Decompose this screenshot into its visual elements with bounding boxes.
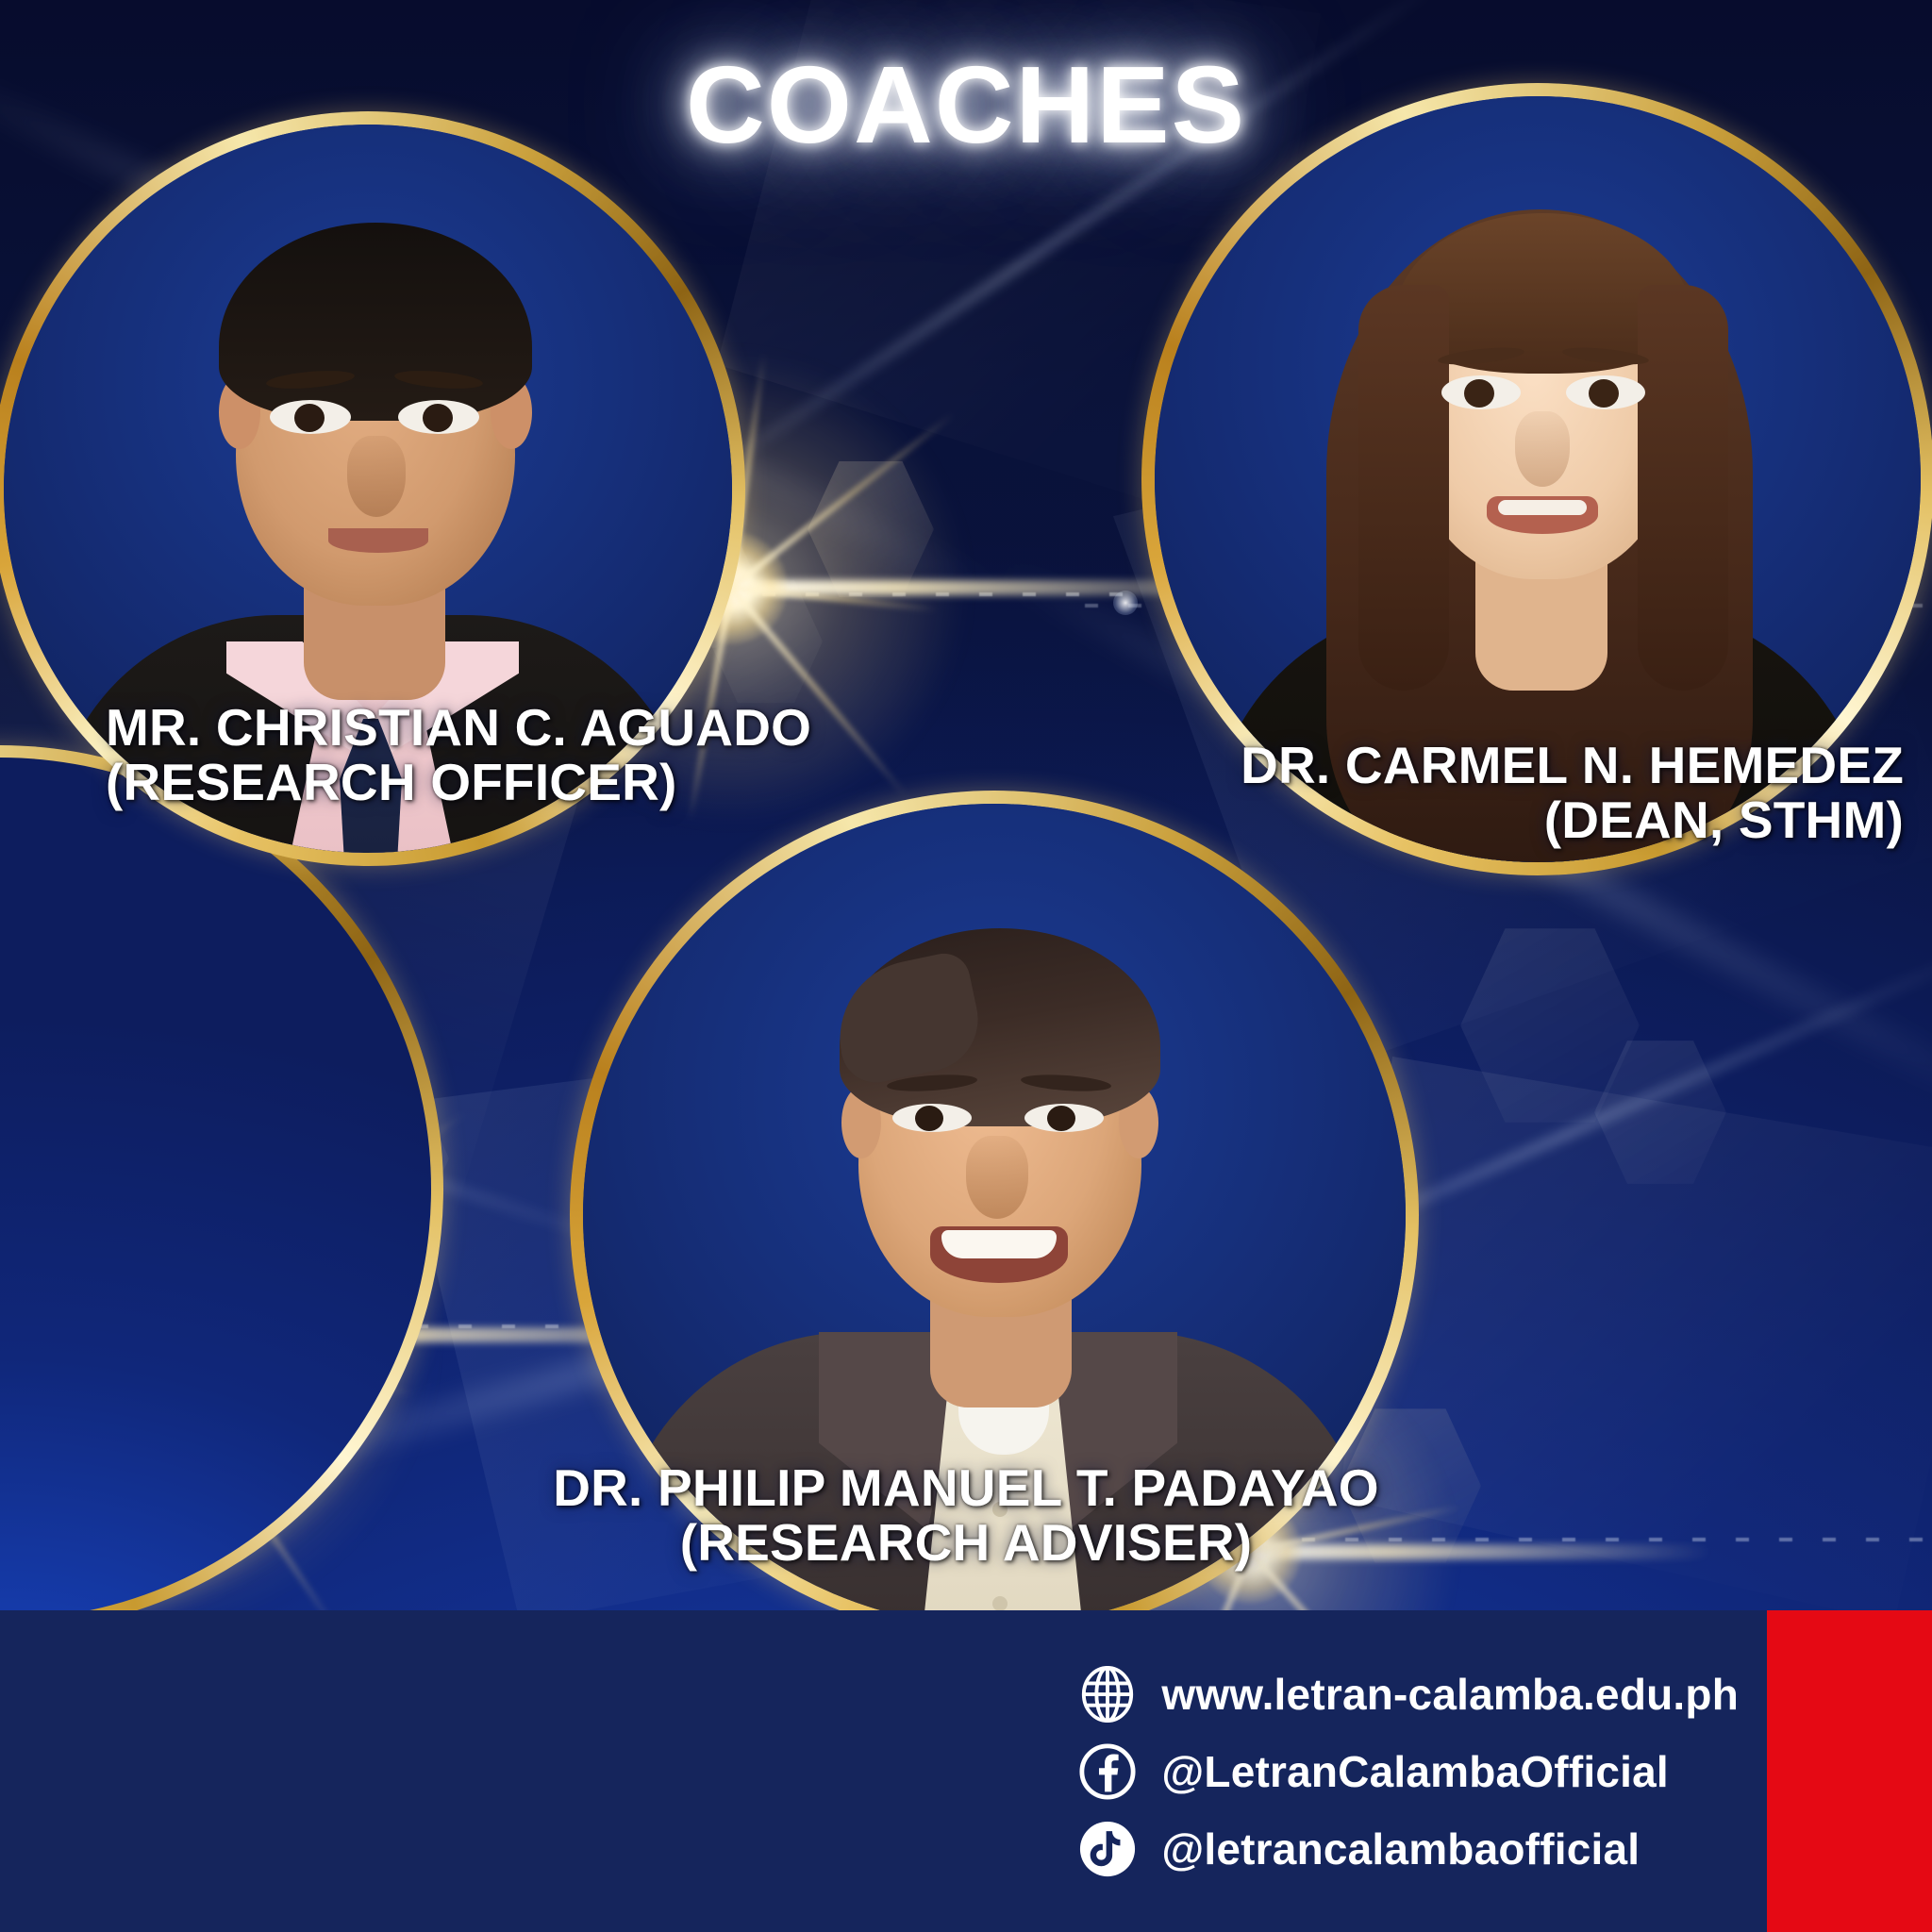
portrait-pupil bbox=[294, 404, 325, 432]
tiktok-icon bbox=[1078, 1820, 1137, 1878]
contact-row-tiktok[interactable]: @letrancalambaofficial bbox=[1078, 1820, 1739, 1878]
contact-row-facebook[interactable]: @LetranCalambaOfficial bbox=[1078, 1742, 1739, 1801]
portrait-teeth bbox=[1498, 500, 1587, 515]
tiktok-label: @letrancalambaofficial bbox=[1161, 1824, 1640, 1874]
portrait-nose bbox=[1515, 411, 1570, 487]
portrait-pupil bbox=[1047, 1106, 1075, 1131]
portrait-pupil bbox=[915, 1106, 943, 1131]
tech-dot bbox=[1113, 591, 1138, 615]
footer-bar: www.letran-calamba.edu.ph @LetranCalamba… bbox=[0, 1610, 1932, 1932]
coach-caption-hemedez: DR. CARMEL N. HEMEDEZ (DEAN, STHM) bbox=[1241, 738, 1904, 848]
portrait-teeth bbox=[941, 1230, 1057, 1258]
website-label: www.letran-calamba.edu.ph bbox=[1161, 1669, 1739, 1720]
portrait-pupil bbox=[1589, 379, 1619, 408]
portrait-hair-side bbox=[1638, 285, 1728, 691]
coach-role: (RESEARCH OFFICER) bbox=[106, 755, 811, 809]
globe-icon bbox=[1078, 1665, 1137, 1724]
coach-caption-aguado: MR. CHRISTIAN C. AGUADO (RESEARCH OFFICE… bbox=[106, 700, 811, 810]
coach-name: MR. CHRISTIAN C. AGUADO bbox=[106, 700, 811, 755]
footer-red-accent bbox=[1767, 1610, 1932, 1932]
portrait-nose bbox=[966, 1136, 1028, 1219]
portrait-hair-side bbox=[1358, 285, 1449, 691]
coach-name: DR. CARMEL N. HEMEDEZ bbox=[1241, 738, 1904, 792]
contact-row-website[interactable]: www.letran-calamba.edu.ph bbox=[1078, 1665, 1739, 1724]
coach-role: (DEAN, STHM) bbox=[1241, 792, 1904, 847]
coach-caption-padayao: DR. PHILIP MANUEL T. PADAYAO (RESEARCH A… bbox=[0, 1460, 1932, 1571]
portrait-mouth bbox=[328, 528, 428, 553]
portrait-hair bbox=[219, 223, 532, 421]
coach-role: (RESEARCH ADVISER) bbox=[0, 1515, 1932, 1570]
portrait-pupil bbox=[423, 404, 453, 432]
portrait-nose bbox=[347, 436, 406, 517]
facebook-icon bbox=[1078, 1742, 1137, 1801]
coaches-poster: COACHES bbox=[0, 0, 1932, 1932]
portrait-button bbox=[992, 1596, 1008, 1611]
facebook-label: @LetranCalambaOfficial bbox=[1161, 1746, 1669, 1797]
contact-list: www.letran-calamba.edu.ph @LetranCalamba… bbox=[1078, 1665, 1739, 1878]
coach-name: DR. PHILIP MANUEL T. PADAYAO bbox=[0, 1460, 1932, 1515]
portrait-pupil bbox=[1464, 379, 1494, 408]
